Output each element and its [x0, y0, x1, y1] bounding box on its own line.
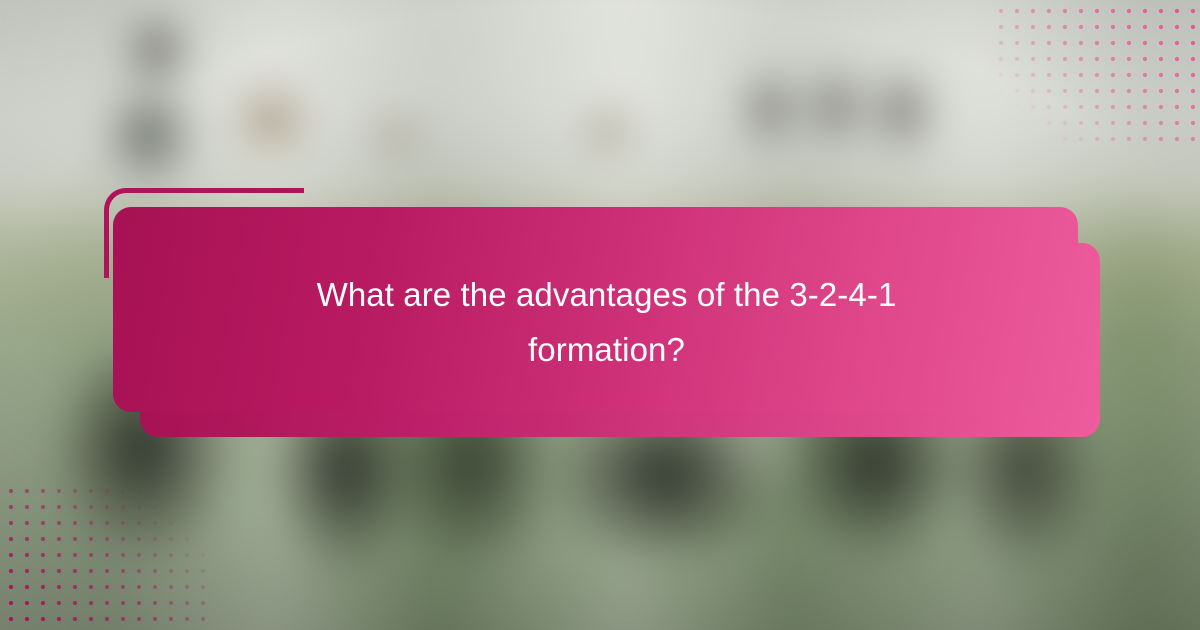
card-text-container: What are the advantages of the 3-2-4-1 f… [113, 207, 1100, 437]
question-card-banner: What are the advantages of the 3-2-4-1 f… [0, 0, 1200, 630]
question-title: What are the advantages of the 3-2-4-1 f… [257, 267, 957, 377]
